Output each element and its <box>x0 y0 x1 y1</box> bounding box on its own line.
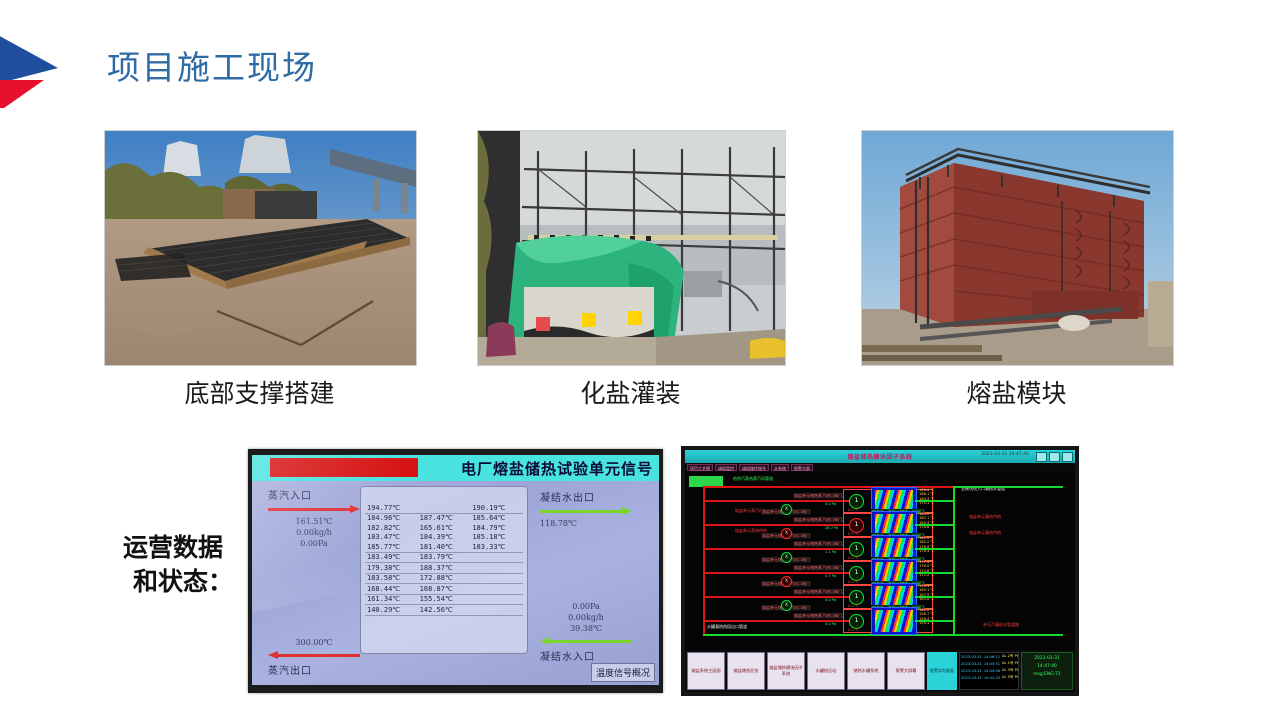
temperature-cell: 168.87℃ <box>418 584 471 595</box>
alarm-log-row[interactable]: 2023-03-3114:44:08AL 3号 Pt-4ALARM/ACK熔盐单… <box>960 667 1019 674</box>
photo-gallery <box>0 130 1280 368</box>
pipe-module-outlet <box>915 572 955 574</box>
close-icon[interactable] <box>1062 452 1073 462</box>
temperature-cell <box>470 594 523 605</box>
temperature-overview-button[interactable]: 温度信号概况 <box>591 663 655 682</box>
scada-nav-button[interactable]: 水罐热压站 <box>807 652 845 690</box>
temperature-cell <box>470 563 523 574</box>
caption-photo-1: 底部支撑搭建 <box>104 374 415 410</box>
temperature-table-panel: 194.77℃190.19℃184.96℃187.47℃185.64℃182.8… <box>360 486 528 654</box>
module-readout-stack: 160.2 ℃158.7 ℃156.4 ℃154.1 ℃ <box>919 608 934 626</box>
temperature-row: 140.29℃142.56℃ <box>365 605 523 616</box>
scada-title: 熔盐储热模块因子系统 <box>847 452 912 461</box>
slide-root: 项目施工现场 <box>0 0 1280 720</box>
scada-bottom-buttons: 熔盐系统主画面熔盐储热总览熔盐储热模块因子系统水罐热压站储热水罐系统报警大屏幕 <box>687 652 925 690</box>
module-readout-value: 172.2 ℃ <box>919 573 934 577</box>
temperature-cell: 183.49℃ <box>365 552 418 563</box>
temperature-cell: 185.64℃ <box>470 513 523 523</box>
module-readout-value: 178.6 ℃ <box>919 525 934 529</box>
scada-window-buttons[interactable] <box>1036 452 1073 462</box>
operating-data-label: 运营数据 和状态： <box>98 531 248 599</box>
module-flow-value: 0.0 Pa <box>825 598 836 602</box>
alarm-panel-title[interactable]: 报警实时画面 <box>927 652 957 690</box>
module-flow-value: 0.7 Pa <box>825 574 836 578</box>
temperature-cell: 187.47℃ <box>418 513 471 523</box>
scada-clock: 2023-03-31 14:47:40 msg:ENG:71 <box>1021 652 1073 690</box>
steam-outlet-group: 300.00℃ 蒸汽出口 <box>268 611 360 677</box>
module-readout-stack: 177.4 ℃176.0 ℃174.8 ℃172.2 ℃ <box>919 560 934 578</box>
temperature-row: 183.58℃172.88℃ <box>365 573 523 584</box>
label-right-red-2: 熔盐单元凝结供热 <box>969 530 1001 536</box>
clock-time: 14:47:40 <box>1024 663 1070 671</box>
module-flow-value: 1.1 Pa <box>825 550 836 554</box>
temperature-cell: 179.38℃ <box>365 563 418 574</box>
label-bottom-left: 水罐凝热热段出口管道 <box>707 624 747 630</box>
hmi-scada-panel: 熔盐储热模块因子系统 2023-03-31 14:47:40 项目工艺图阀组监控… <box>681 446 1079 696</box>
hmi-scada-screen: 熔盐储热模块因子系统 2023-03-31 14:47:40 项目工艺图阀组监控… <box>685 450 1075 692</box>
condensate-inlet-pressure: 0.00Pa <box>540 601 632 612</box>
scada-menu-item[interactable]: 阀组监控 <box>715 464 737 471</box>
photo-1-content <box>105 131 416 365</box>
temperature-row: 185.77℃181.40℃183.33℃ <box>365 542 523 552</box>
temperature-cell: 140.29℃ <box>365 605 418 616</box>
temperature-cell: 165.61℃ <box>418 523 471 533</box>
hmi-signal-panel: 电厂熔盐储热试验单元信号 蒸汽入口 161.51℃ 0.00kg/h 0.00P… <box>248 449 663 693</box>
photo-bottom-support <box>104 130 417 366</box>
alarm-log-cell: 14:44:08 <box>983 667 1001 674</box>
maximize-icon[interactable] <box>1049 452 1060 462</box>
alarm-log-cell: 14:42:33 <box>983 674 1001 681</box>
temperature-cell: 185.77℃ <box>365 542 418 552</box>
caption-photo-2: 化盐灌装 <box>477 374 784 410</box>
condensate-outlet-temp: 118.78℃ <box>540 518 632 529</box>
scada-nav-button[interactable]: 熔盐储热模块因子系统 <box>767 652 805 690</box>
hmi-signal-body: 蒸汽入口 161.51℃ 0.00kg/h 0.00Pa 凝结水出口 118.7… <box>252 481 659 685</box>
pipe-module-outlet <box>915 548 955 550</box>
hmi-signal-titlebar: 电厂熔盐储热试验单元信号 <box>252 455 659 481</box>
valve-label-inlet[interactable]: 熔盐单元储热蒸汽进口阀门 <box>793 541 843 547</box>
caption-photo-3: 熔盐模块 <box>861 374 1172 410</box>
steam-inlet-pressure: 0.00Pa <box>268 538 360 549</box>
temperature-cell <box>418 503 471 513</box>
temperature-cell: 184.96℃ <box>365 513 418 523</box>
steam-inlet-arrow-icon <box>268 505 360 513</box>
scada-nav-button[interactable]: 报警大屏幕 <box>887 652 925 690</box>
temperature-cell <box>470 584 523 595</box>
temperature-table: 194.77℃190.19℃184.96℃187.47℃185.64℃182.8… <box>365 503 523 616</box>
valve-indicator-small[interactable]: X <box>781 504 792 515</box>
valve-label-inlet[interactable]: 熔盐单元储热蒸汽进口阀门 <box>793 493 843 499</box>
operating-data-line2: 和状态： <box>98 565 248 599</box>
temperature-cell: 183.47℃ <box>365 533 418 543</box>
temperature-cell: 183.58℃ <box>365 573 418 584</box>
temperature-cell <box>470 605 523 616</box>
module-flow-value: 26.7 Pa <box>825 526 838 530</box>
module-readout-stack: 188.6 ℃186.1 ℃184.3 ℃179.1 ℃ <box>919 488 934 506</box>
scada-menu-item[interactable]: 项目工艺图 <box>687 464 713 471</box>
scada-menubar[interactable]: 项目工艺图阀组监控阀组操作指令水系统报警大屏 <box>685 463 1075 472</box>
alarm-log-cell: AL 5号 Pt-1 <box>1001 674 1019 681</box>
page-title: 项目施工现场 <box>107 41 317 89</box>
pipe-module-outlet <box>915 524 955 526</box>
temperature-row: 183.47℃184.39℃185.18℃ <box>365 533 523 543</box>
photo-molten-salt-module <box>861 130 1174 366</box>
pipe-module-outlet <box>915 500 955 502</box>
module-readout-value: 165.0 ℃ <box>919 597 934 601</box>
temperature-cell: 194.77℃ <box>365 503 418 513</box>
salt-module-block[interactable] <box>871 607 917 635</box>
alarm-log-table: 2023-03-3114:46:12AL 2号 Pt-3ALARM/ACK熔盐单… <box>960 653 1019 681</box>
condensate-inlet-label: 凝结水入口 <box>540 648 632 663</box>
scada-menu-item[interactable]: 阀组操作指令 <box>739 464 769 471</box>
temperature-cell <box>470 552 523 563</box>
redaction-bar <box>270 458 418 477</box>
module-flow-value: 0.0 Pa <box>825 502 836 506</box>
clock-msg: msg:ENG:71 <box>1024 671 1070 679</box>
operating-data-line1: 运营数据 <box>123 533 223 562</box>
condensate-outlet-arrow-icon <box>540 507 632 515</box>
alarm-log-row[interactable]: 2023-03-3114:46:12AL 2号 Pt-3ALARM/ACK熔盐单… <box>960 653 1019 660</box>
alarm-log-cell: AL 1号 Pt-2 <box>1001 660 1019 667</box>
temperature-cell: 185.18℃ <box>470 533 523 543</box>
condensate-inlet-group: 0.00Pa 0.00kg/h 39.38℃ 凝结水入口 <box>540 601 632 663</box>
minimize-icon[interactable] <box>1036 452 1047 462</box>
scada-menu-item[interactable]: 报警大屏 <box>791 464 813 471</box>
scada-nav-button[interactable]: 储热水罐系统 <box>847 652 885 690</box>
steam-inlet-group: 蒸汽入口 161.51℃ 0.00kg/h 0.00Pa <box>268 487 360 549</box>
alarm-log-row[interactable]: 2023-03-3114:42:33AL 5号 Pt-1ALARM/ACK熔盐单… <box>960 674 1019 681</box>
pipe-module-outlet <box>915 620 955 622</box>
steam-inlet-flow: 0.00kg/h <box>268 527 360 538</box>
scada-nav-button[interactable]: 熔盐系统主画面 <box>687 652 725 690</box>
photo-3-content <box>862 131 1173 365</box>
company-logo <box>0 28 62 114</box>
alarm-log[interactable]: 2023-03-3114:46:12AL 2号 Pt-3ALARM/ACK熔盐单… <box>959 652 1019 690</box>
temperature-row: 179.38℃188.37℃ <box>365 563 523 574</box>
photo-2-content <box>478 131 785 365</box>
condensate-inlet-temp: 39.38℃ <box>540 623 632 634</box>
valve-indicator-small[interactable]: X <box>781 552 792 563</box>
valve-label-inlet[interactable]: 熔盐单元储热蒸汽进口阀门 <box>793 565 843 571</box>
temperature-cell: 168.44℃ <box>365 584 418 595</box>
condensate-outlet-group: 凝结水出口 118.78℃ <box>540 489 632 529</box>
valve-indicator-small[interactable]: X <box>781 600 792 611</box>
alarm-log-body: 2023-03-3114:46:12AL 2号 Pt-3ALARM/ACK熔盐单… <box>960 653 1019 681</box>
temperature-cell: 142.56℃ <box>418 605 471 616</box>
pipe-right-vertical <box>953 486 955 636</box>
valve-label-inlet[interactable]: 熔盐单元储热蒸汽进口阀门 <box>793 517 843 523</box>
alarm-log-cell: 14:45:51 <box>983 660 1001 667</box>
pipe-left-vertical <box>703 486 705 636</box>
scada-titlebar: 熔盐储热模块因子系统 2023-03-31 14:47:40 <box>685 450 1075 463</box>
alarm-log-cell: 2023-03-31 <box>960 674 983 681</box>
scada-diagram: 给热汽蒸热蒸汽母管道 全模块进入口凝结水管道 熔盐单元蒸汽供热 熔盐单元蒸热供热… <box>685 472 1075 650</box>
valve-indicator-small[interactable]: X <box>781 528 792 539</box>
alarm-log-cell: 14:46:12 <box>983 653 1001 660</box>
condensate-inlet-flow: 0.00kg/h <box>540 612 632 623</box>
pipe-right-header <box>953 486 1063 488</box>
temperature-cell: 188.37℃ <box>418 563 471 574</box>
module-readout-stack: 183.2 ℃182.1 ℃180.4 ℃178.6 ℃ <box>919 512 934 530</box>
temperature-row: 182.82℃165.61℃184.79℃ <box>365 523 523 533</box>
hmi-signal-screen: 电厂熔盐储热试验单元信号 蒸汽入口 161.51℃ 0.00kg/h 0.00P… <box>252 455 659 685</box>
condensate-outlet-label: 凝结水出口 <box>540 489 632 504</box>
scada-nav-button[interactable]: 熔盐储热总览 <box>727 652 765 690</box>
label-bottom-right: 补压汽凝结水管道路 <box>983 622 1019 628</box>
temperature-cell: 181.40℃ <box>418 542 471 552</box>
temperature-cell: 183.79℃ <box>418 552 471 563</box>
alarm-log-cell: AL 2号 Pt-3 <box>1001 653 1019 660</box>
steam-outlet-label: 蒸汽出口 <box>268 662 360 677</box>
logo-arrow-icon <box>0 28 62 114</box>
temperature-cell: 155.54℃ <box>418 594 471 605</box>
scada-bottom-bar: 熔盐系统主画面熔盐储热总览熔盐储热模块因子系统水罐热压站储热水罐系统报警大屏幕 … <box>685 650 1075 692</box>
heat-exchanger-coil-icon <box>875 610 913 632</box>
temperature-cell: 184.39℃ <box>418 533 471 543</box>
steam-outlet-arrow-icon <box>268 651 360 659</box>
module-readout-stack: 170.3 ℃169.1 ℃167.5 ℃165.0 ℃ <box>919 584 934 602</box>
temperature-row: 161.34℃155.54℃ <box>365 594 523 605</box>
steam-outlet-temp: 300.00℃ <box>268 637 360 648</box>
steam-inlet-temp: 161.51℃ <box>268 516 360 527</box>
steam-inlet-label: 蒸汽入口 <box>268 487 360 502</box>
temperature-cell: 190.19℃ <box>470 503 523 513</box>
scada-menu-item[interactable]: 水系统 <box>771 464 789 471</box>
temperature-cell: 182.82℃ <box>365 523 418 533</box>
condensate-inlet-arrow-icon <box>540 637 632 645</box>
module-readout-stack: 181.5 ℃180.2 ℃178.9 ℃176.3 ℃ <box>919 536 934 554</box>
temperature-row: 183.49℃183.79℃ <box>365 552 523 563</box>
alarm-log-cell: 2023-03-31 <box>960 667 983 674</box>
temperature-cell: 183.33℃ <box>470 542 523 552</box>
valve-label-inlet[interactable]: 熔盐单元储热蒸汽进口阀门 <box>793 613 843 619</box>
temperature-cell <box>470 573 523 584</box>
module-flow-value: 0.0 Pa <box>825 622 836 626</box>
temperature-row: 194.77℃190.19℃ <box>365 503 523 513</box>
label-header-pipe: 给热汽蒸热蒸汽母管道 <box>733 476 773 482</box>
photo-salt-filling <box>477 130 786 366</box>
scada-datetime: 2023-03-31 14:47:40 <box>981 452 1029 457</box>
valve-indicator-small[interactable]: X <box>781 576 792 587</box>
alarm-log-row[interactable]: 2023-03-3114:45:51AL 1号 Pt-2ALARM/ACK熔盐单… <box>960 660 1019 667</box>
temperature-cell: 184.79℃ <box>470 523 523 533</box>
pipe-module-outlet <box>915 596 955 598</box>
temperature-table-body: 194.77℃190.19℃184.96℃187.47℃185.64℃182.8… <box>365 503 523 615</box>
temperature-row: 168.44℃168.87℃ <box>365 584 523 595</box>
clock-date: 2023-03-31 <box>1024 655 1070 663</box>
valve-label-inlet[interactable]: 熔盐单元储热蒸汽进口阀门 <box>793 589 843 595</box>
alarm-log-cell: 2023-03-31 <box>960 653 983 660</box>
label-right-red-1: 熔盐单元凝结供热 <box>969 514 1001 520</box>
hmi-signal-title: 电厂熔盐储热试验单元信号 <box>461 458 653 479</box>
alarm-log-cell: 2023-03-31 <box>960 660 983 667</box>
temperature-cell: 172.88℃ <box>418 573 471 584</box>
alarm-log-cell: AL 3号 Pt-4 <box>1001 667 1019 674</box>
module-readout-value: 154.1 ℃ <box>919 621 934 625</box>
temperature-cell: 161.34℃ <box>365 594 418 605</box>
temperature-row: 184.96℃187.47℃185.64℃ <box>365 513 523 523</box>
module-readout-value: 176.3 ℃ <box>919 549 934 553</box>
module-readout-value: 179.1 ℃ <box>919 501 934 505</box>
